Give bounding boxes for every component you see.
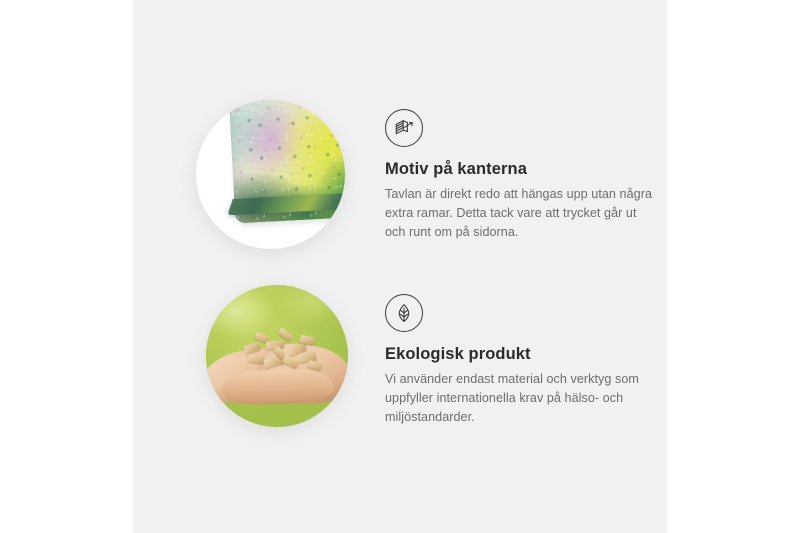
feature-body-edges: Tavlan är direkt redo att hängas upp uta… (385, 185, 653, 242)
product-feature-panel: Motiv på kanterna Tavlan är direkt redo … (0, 0, 800, 533)
feature-title-edges: Motiv på kanterna (385, 160, 653, 180)
wood-chips-in-hands-photo (206, 285, 348, 427)
content-panel: Motiv på kanterna Tavlan är direkt redo … (133, 0, 667, 533)
feature-title-eco: Ekologisk produkt (385, 345, 657, 365)
feature-body-eco: Vi använder endast material och verktyg … (385, 370, 657, 427)
feature-text-edges: Motiv på kanterna Tavlan är direkt redo … (385, 100, 653, 242)
canvas-wrapped-edges-icon (385, 109, 423, 147)
canvas-corner-photo (196, 100, 345, 249)
meadow-background (206, 285, 348, 427)
leaf-icon (385, 294, 423, 332)
feature-text-eco: Ekologisk produkt Vi använder endast mat… (385, 285, 657, 427)
feature-item-eco: Ekologisk produkt Vi använder endast mat… (206, 285, 657, 427)
feature-item-edges: Motiv på kanterna Tavlan är direkt redo … (196, 100, 653, 249)
wood-chip-pile (242, 328, 324, 374)
